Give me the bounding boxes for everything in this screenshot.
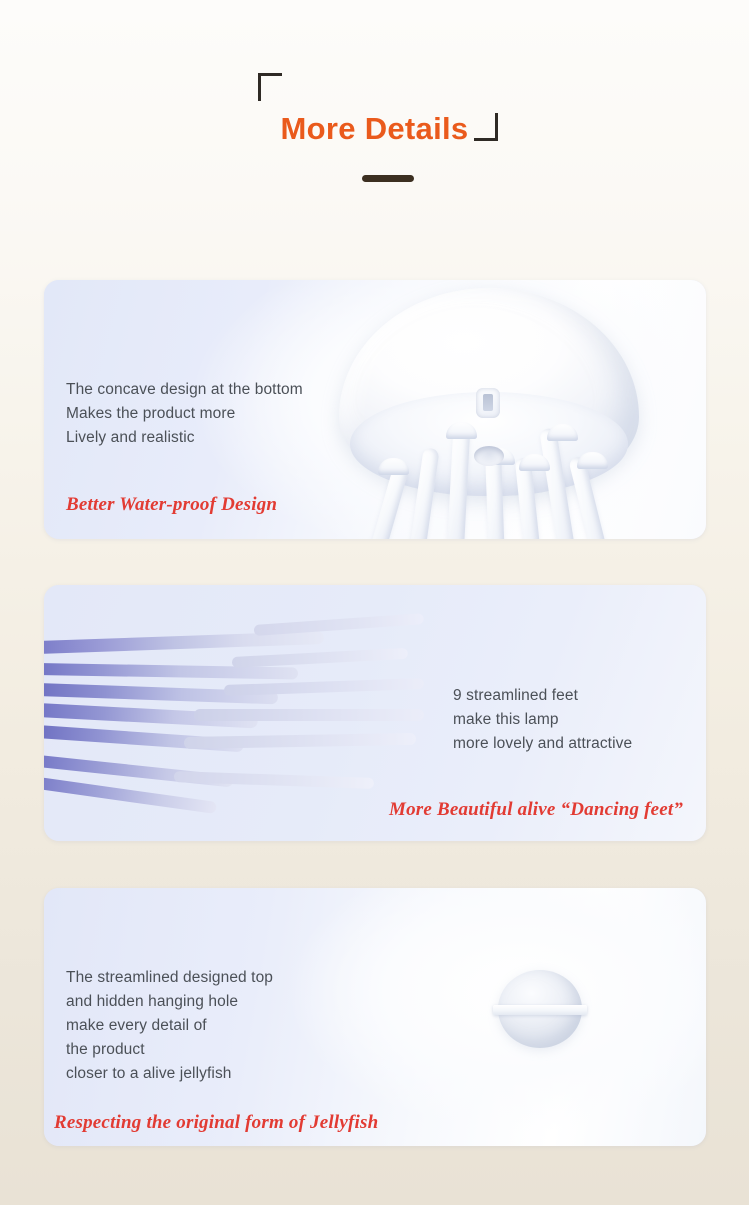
lamp-leg-socket-shape xyxy=(446,422,477,439)
page-title-wrap: More Details xyxy=(0,72,749,173)
panel-caption: More Beautiful alive “Dancing feet” xyxy=(389,799,683,821)
tentacle-shape xyxy=(44,631,324,654)
tentacle-shape xyxy=(224,678,424,696)
page-title: More Details xyxy=(255,93,495,152)
panel-body-text: 9 streamlined feet make this lamp more l… xyxy=(453,684,632,756)
panel-caption: Respecting the original form of Jellyfis… xyxy=(54,1112,378,1134)
lamp-leg-shape xyxy=(485,452,505,539)
lamp-top-dome-shape xyxy=(498,970,582,1048)
tentacle-shape xyxy=(44,755,234,787)
lamp-leg-shape xyxy=(568,456,608,539)
detail-panel-jellyfish-form: The streamlined designed top and hidden … xyxy=(44,888,706,1146)
detail-panel-waterproof: The concave design at the bottom Makes t… xyxy=(44,280,706,539)
panel-body-text: The streamlined designed top and hidden … xyxy=(66,966,273,1086)
tentacle-shape xyxy=(174,771,374,789)
hanging-hole-slot-shape xyxy=(493,1005,587,1015)
tentacle-shape xyxy=(254,613,424,636)
lamp-leg-socket-shape xyxy=(519,454,550,471)
tentacle-shape xyxy=(44,683,278,704)
tentacle-shape xyxy=(44,777,217,814)
page-header: More Details xyxy=(0,0,749,230)
tentacle-shape xyxy=(44,663,298,680)
lamp-leg-socket-shape xyxy=(577,452,608,469)
lamp-center-hole-shape xyxy=(474,446,504,466)
lamp-leg-shape xyxy=(447,426,471,539)
lamp-leg-shape xyxy=(515,457,542,539)
lamp-leg-shape xyxy=(539,427,576,539)
lamp-leg-socket-shape xyxy=(547,424,578,441)
lamp-dome-rim-shape xyxy=(350,392,628,496)
detail-panel-dancing-feet: 9 streamlined feet make this lamp more l… xyxy=(44,585,706,841)
lamp-connector-port-shape xyxy=(476,388,500,418)
lamp-leg-socket-shape xyxy=(484,448,515,465)
tentacle-shape xyxy=(44,725,244,752)
tentacle-shape xyxy=(184,733,416,749)
lamp-leg-shape xyxy=(370,462,410,539)
lamp-leg-shape xyxy=(408,447,439,539)
tentacle-shape xyxy=(232,648,408,668)
tentacle-shape xyxy=(44,703,258,728)
panel-body-text: The concave design at the bottom Makes t… xyxy=(66,378,303,450)
lamp-leg-socket-shape xyxy=(378,458,409,475)
title-divider-dash xyxy=(362,175,414,182)
panel-caption: Better Water-proof Design xyxy=(66,494,277,516)
lamp-dome-shape xyxy=(339,288,639,496)
tentacle-shape xyxy=(194,709,424,721)
